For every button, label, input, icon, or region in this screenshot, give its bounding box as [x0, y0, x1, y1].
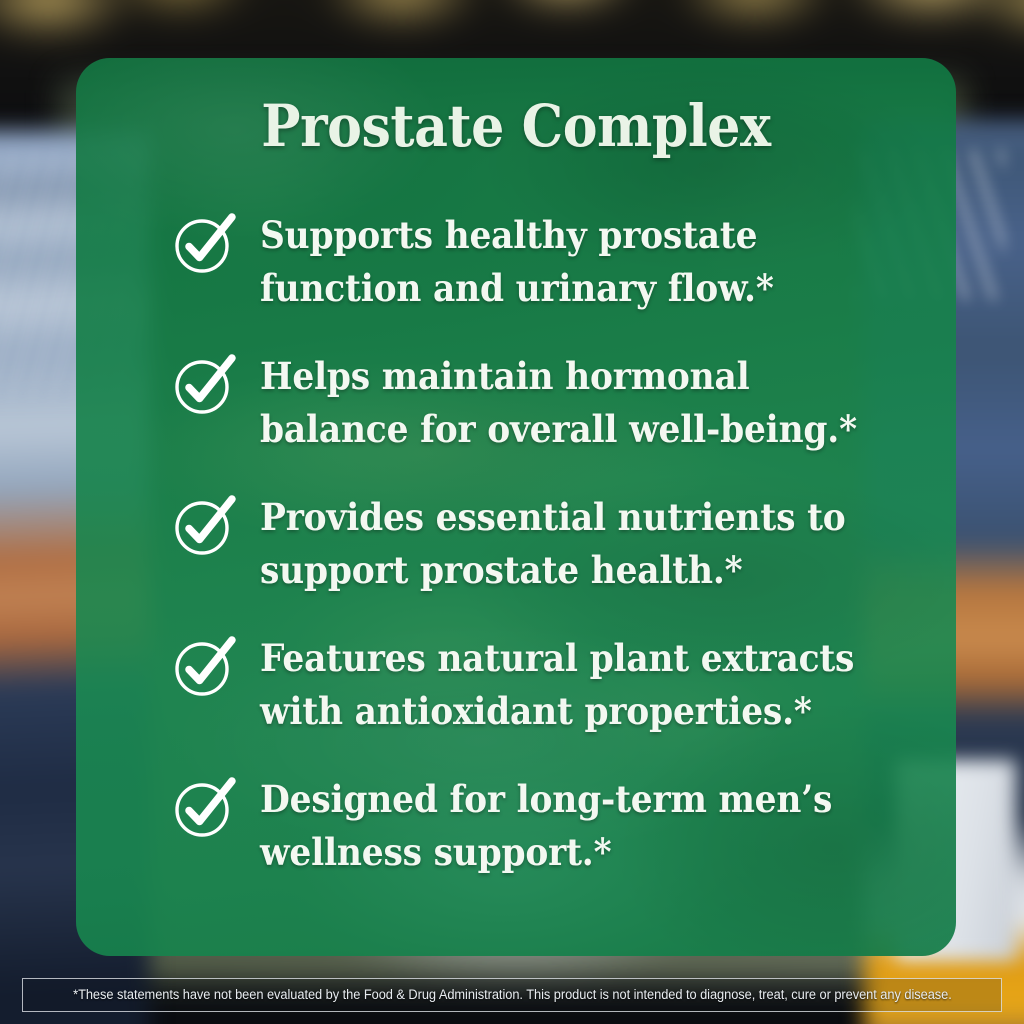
check-circle-icon	[172, 775, 238, 841]
list-item: Supports healthy prostate function and u…	[172, 209, 912, 315]
list-item: Features natural plant extracts with ant…	[172, 632, 912, 738]
benefit-text: Supports healthy prostate function and u…	[260, 209, 866, 315]
page-title: Prostate Complex	[160, 58, 873, 157]
list-item: Helps maintain hormonal balance for over…	[172, 350, 912, 456]
benefits-list: Supports healthy prostate function and u…	[120, 157, 912, 879]
benefit-text: Provides essential nutrients to support …	[260, 491, 866, 597]
check-circle-icon	[172, 211, 238, 277]
check-circle-icon	[172, 352, 238, 418]
benefit-text: Designed for long-term men’s wellness su…	[260, 773, 866, 879]
fda-disclaimer-box: *These statements have not been evaluate…	[22, 978, 1002, 1012]
benefit-text: Features natural plant extracts with ant…	[260, 632, 866, 738]
benefit-text: Helps maintain hormonal balance for over…	[260, 350, 866, 456]
list-item: Provides essential nutrients to support …	[172, 491, 912, 597]
product-benefits-graphic: Prostate Complex Supports healthy prosta…	[0, 0, 1024, 1024]
fda-disclaimer-text: *These statements have not been evaluate…	[73, 988, 952, 1002]
list-item: Designed for long-term men’s wellness su…	[172, 773, 912, 879]
check-circle-icon	[172, 634, 238, 700]
benefits-card: Prostate Complex Supports healthy prosta…	[76, 58, 956, 956]
check-circle-icon	[172, 493, 238, 559]
